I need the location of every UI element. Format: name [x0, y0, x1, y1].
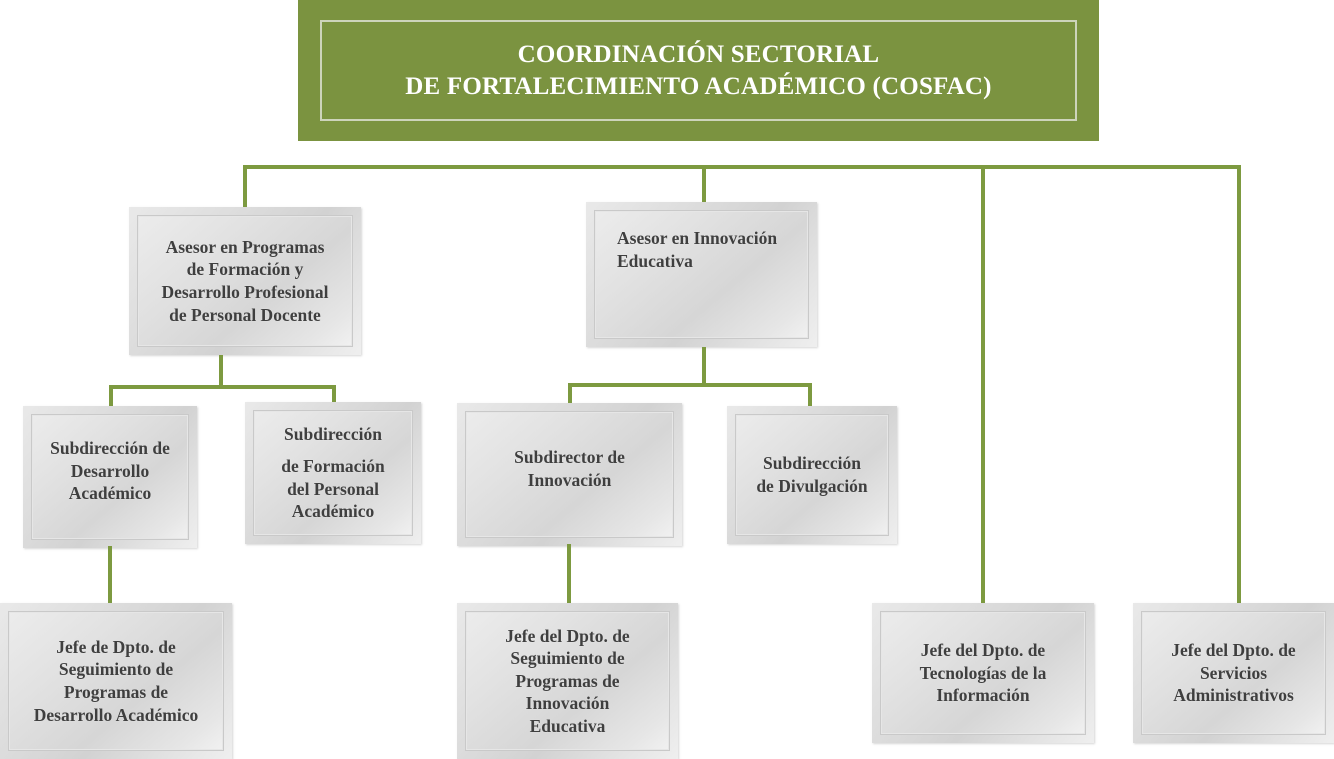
header-title: COORDINACIÓN SECTORIAL DE FORTALECIMIENT…	[399, 39, 997, 102]
node-bezel: Subdirección de Divulgación	[735, 414, 889, 536]
node-bezel: Asesor en Innovación Educativa	[594, 210, 809, 339]
node-label: Jefe del Dpto. de Tecnologías de la Info…	[881, 639, 1085, 707]
node-bezel: Subdirección de Desarrollo Académico	[31, 414, 189, 540]
node-subdireccion-de-formacion-del-personal-academico[interactable]: Subdirección de Formación del Personal A…	[245, 402, 421, 544]
node-label: Asesor en Innovación Educativa	[595, 211, 808, 272]
connector-root-drop-tecnologias	[981, 165, 985, 604]
connector-root-drop-asesor-formacion	[243, 165, 247, 208]
node-jefe-del-dpto-de-tecnologias-de-la-informacion[interactable]: Jefe del Dpto. de Tecnologías de la Info…	[872, 603, 1094, 743]
node-label: Subdirección de Desarrollo Académico	[32, 437, 188, 505]
connector-root-drop-servicios	[1237, 165, 1241, 604]
header-inner-border: COORDINACIÓN SECTORIAL DE FORTALECIMIENT…	[320, 20, 1077, 121]
node-subdireccion-de-divulgacion[interactable]: Subdirección de Divulgación	[727, 406, 897, 544]
connector-innovacion-drop-divulgacion	[808, 383, 812, 408]
node-asesor-en-programas-de-formacion[interactable]: Asesor en Programas de Formación y Desar…	[129, 207, 361, 355]
node-label: Jefe del Dpto. de Seguimiento de Program…	[466, 625, 669, 738]
node-coordinacion-sectorial[interactable]: COORDINACIÓN SECTORIAL DE FORTALECIMIENT…	[298, 0, 1099, 141]
connector-formacion-bus-horizontal	[109, 385, 336, 389]
node-bezel: Jefe del Dpto. de Seguimiento de Program…	[465, 611, 670, 751]
connector-innovacion-drop-subdirector	[568, 383, 572, 405]
node-bezel: Jefe de Dpto. de Seguimiento de Programa…	[8, 611, 224, 751]
node-bezel: Subdirector de Innovación	[465, 411, 674, 538]
org-chart: COORDINACIÓN SECTORIAL DE FORTALECIMIENT…	[0, 0, 1334, 759]
connector-innovacion-bus-horizontal	[568, 383, 812, 387]
node-subdirector-de-innovacion[interactable]: Subdirector de Innovación	[457, 403, 682, 546]
header-title-line1: COORDINACIÓN SECTORIAL	[518, 41, 880, 68]
node-label: Subdirector de Innovación	[466, 446, 673, 491]
header-title-line2: DE FORTALECIMIENTO ACADÉMICO (COSFAC)	[405, 73, 991, 100]
node-jefe-del-dpto-de-seguimiento-de-programas-de-innovacion-educativa[interactable]: Jefe del Dpto. de Seguimiento de Program…	[457, 603, 678, 759]
connector-root-bus-horizontal	[243, 165, 1241, 169]
node-label: Jefe del Dpto. de Servicios Administrati…	[1142, 639, 1325, 707]
node-bezel: Jefe del Dpto. de Tecnologías de la Info…	[880, 611, 1086, 735]
node-label: Subdirección de Divulgación	[736, 452, 888, 497]
node-label: Jefe de Dpto. de Seguimiento de Programa…	[9, 636, 223, 726]
connector-desarrollo-to-jefe-seguimiento	[108, 546, 112, 605]
node-subdireccion-de-desarrollo-academico[interactable]: Subdirección de Desarrollo Académico	[23, 406, 197, 548]
node-label: Subdirección de Formación del Personal A…	[254, 423, 412, 522]
node-asesor-en-innovacion-educativa[interactable]: Asesor en Innovación Educativa	[586, 202, 817, 347]
node-jefe-del-dpto-de-servicios-administrativos[interactable]: Jefe del Dpto. de Servicios Administrati…	[1133, 603, 1334, 743]
node-bezel: Jefe del Dpto. de Servicios Administrati…	[1141, 611, 1326, 735]
node-label: Asesor en Programas de Formación y Desar…	[138, 236, 352, 326]
connector-innovacion-stem	[702, 347, 706, 385]
connector-formacion-drop-desarrollo	[109, 385, 113, 408]
connector-root-drop-asesor-innovacion	[702, 165, 706, 203]
node-bezel: Asesor en Programas de Formación y Desar…	[137, 215, 353, 347]
connector-formacion-stem	[219, 355, 223, 388]
node-jefe-de-dpto-de-seguimiento-de-programas-de-desarrollo-academico[interactable]: Jefe de Dpto. de Seguimiento de Programa…	[0, 603, 232, 759]
node-bezel: Subdirección de Formación del Personal A…	[253, 410, 413, 536]
line-gap	[260, 446, 406, 455]
connector-subdirector-to-jefe-innovacion	[567, 544, 571, 605]
